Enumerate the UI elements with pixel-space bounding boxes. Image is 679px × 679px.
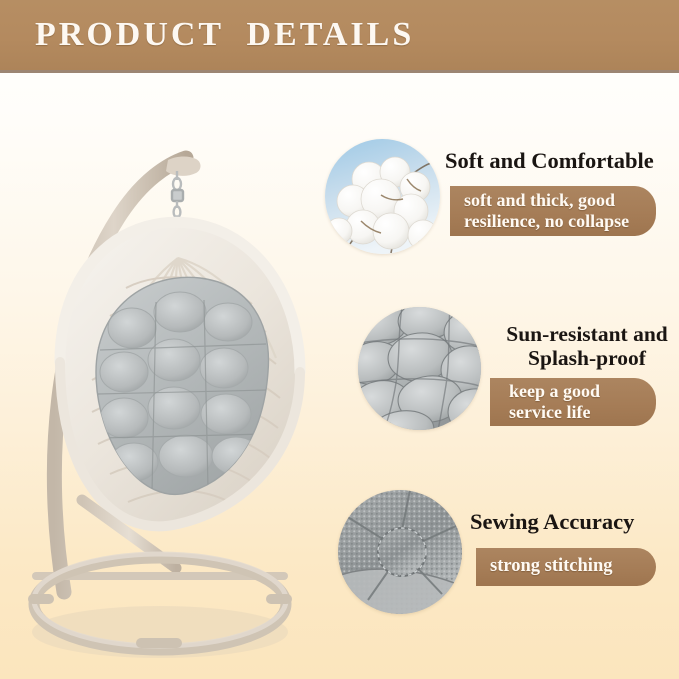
feature-3-ribbon-line-1: strong stitching <box>490 556 656 577</box>
stitched-fabric-closeup-photo-icon <box>338 490 462 614</box>
stitching-detail-illustration <box>338 490 462 614</box>
base-foot-left <box>28 594 54 604</box>
feature-2-ribbon: keep a good service life <box>490 378 656 426</box>
header-banner: PRODUCT DETAILS <box>0 0 679 73</box>
tufted-cushion-illustration <box>358 307 481 430</box>
product-details-page: PRODUCT DETAILS <box>0 0 679 679</box>
feature-3-heading: Sewing Accuracy <box>470 509 634 534</box>
stand-arm-tip <box>166 156 201 175</box>
feature-2-heading-line-1: Sun-resistant and <box>506 322 668 346</box>
feature-1-heading: Soft and Comfortable <box>445 148 654 173</box>
feature-1-ribbon-line-2: resilience, no collapse <box>464 211 656 232</box>
page-title: PRODUCT DETAILS <box>35 16 414 54</box>
cotton-bolls-photo-icon <box>325 139 440 254</box>
gray-tufted-cushion-photo-icon <box>358 307 481 430</box>
feature-2-heading: Sun-resistant and Splash-proof <box>492 322 679 370</box>
product-image-hanging-egg-chair <box>0 72 330 679</box>
egg-chair-illustration <box>0 72 330 679</box>
cotton-bolls-illustration <box>325 139 440 254</box>
base-foot-front <box>136 638 182 648</box>
feature-2-ribbon-line-2: service life <box>509 402 656 423</box>
feature-3-ribbon: strong stitching <box>476 548 656 586</box>
feature-1-ribbon: soft and thick, good resilience, no coll… <box>450 186 656 236</box>
base-foot-right <box>266 594 292 604</box>
feature-2-ribbon-line-1: keep a good <box>509 381 656 402</box>
feature-2-heading-line-2: Splash-proof <box>528 346 646 370</box>
feature-1-ribbon-line-1: soft and thick, good <box>464 190 656 211</box>
